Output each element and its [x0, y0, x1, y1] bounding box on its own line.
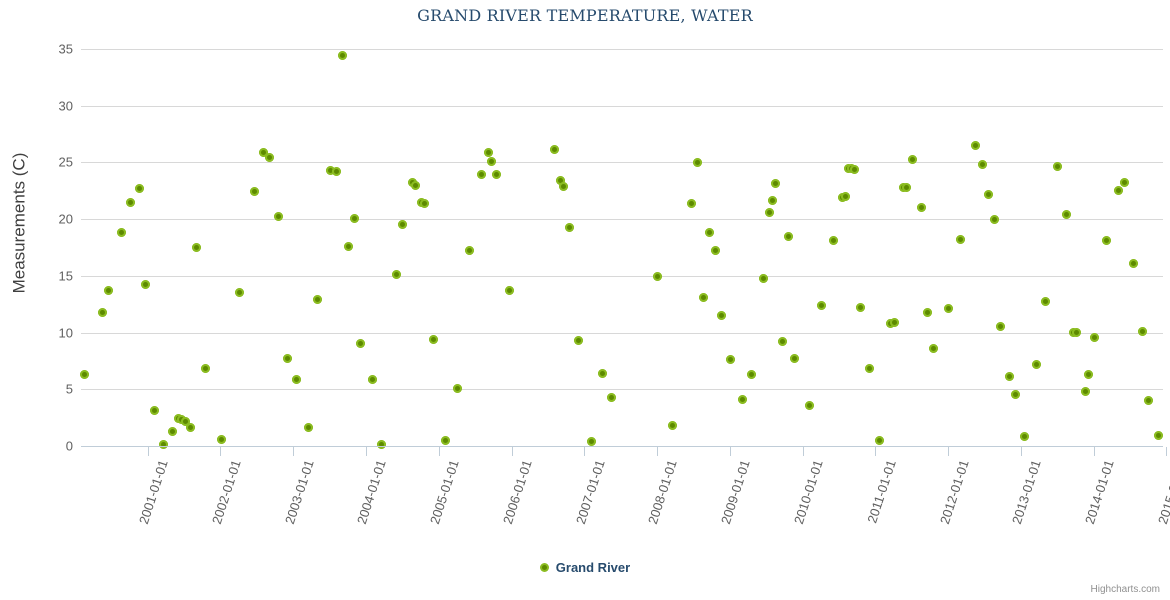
x-tick-mark: [148, 447, 149, 456]
data-point[interactable]: [1138, 327, 1147, 336]
data-point[interactable]: [250, 187, 259, 196]
data-point[interactable]: [104, 286, 113, 295]
gridline: [81, 106, 1163, 107]
data-point[interactable]: [711, 246, 720, 255]
data-point[interactable]: [477, 170, 486, 179]
y-tick-label: 15: [33, 268, 73, 283]
y-axis-tick-labels: 05101520253035: [31, 49, 73, 446]
data-point[interactable]: [784, 232, 793, 241]
x-tick-mark: [730, 447, 731, 456]
data-point[interactable]: [1120, 178, 1129, 187]
data-point[interactable]: [805, 401, 814, 410]
data-point[interactable]: [902, 183, 911, 192]
x-tick-label: 2002-01-01: [209, 458, 244, 526]
gridline: [81, 389, 1163, 390]
data-point[interactable]: [817, 301, 826, 310]
data-point[interactable]: [1011, 390, 1020, 399]
data-point[interactable]: [790, 354, 799, 363]
data-point[interactable]: [1102, 236, 1111, 245]
data-point[interactable]: [768, 196, 777, 205]
gridline: [81, 49, 1163, 50]
data-point[interactable]: [598, 369, 607, 378]
data-point[interactable]: [453, 384, 462, 393]
y-axis-title-label: Measurements (C): [9, 153, 29, 294]
data-point[interactable]: [865, 364, 874, 373]
data-point[interactable]: [186, 423, 195, 432]
x-tick-mark: [439, 447, 440, 456]
x-tick-mark: [803, 447, 804, 456]
data-point[interactable]: [587, 437, 596, 446]
data-point[interactable]: [850, 165, 859, 174]
x-tick-mark: [366, 447, 367, 456]
gridline: [81, 162, 1163, 163]
data-point[interactable]: [1032, 360, 1041, 369]
data-point[interactable]: [559, 182, 568, 191]
data-point[interactable]: [705, 228, 714, 237]
data-point[interactable]: [98, 308, 107, 317]
chart-legend[interactable]: Grand River: [0, 560, 1170, 575]
data-point[interactable]: [996, 322, 1005, 331]
data-point[interactable]: [487, 157, 496, 166]
data-point[interactable]: [908, 155, 917, 164]
data-point[interactable]: [350, 214, 359, 223]
x-tick-label: 2013-01-01: [1009, 458, 1044, 526]
data-point[interactable]: [1154, 431, 1163, 440]
data-point[interactable]: [1129, 259, 1138, 268]
data-point[interactable]: [929, 344, 938, 353]
x-tick-label: 2004-01-01: [354, 458, 389, 526]
data-point[interactable]: [217, 435, 226, 444]
data-point[interactable]: [771, 179, 780, 188]
data-point[interactable]: [923, 308, 932, 317]
data-point[interactable]: [738, 395, 747, 404]
data-point[interactable]: [699, 293, 708, 302]
data-point[interactable]: [990, 215, 999, 224]
data-point[interactable]: [841, 192, 850, 201]
data-point[interactable]: [759, 274, 768, 283]
x-tick-label: 2009-01-01: [718, 458, 753, 526]
x-tick-mark: [584, 447, 585, 456]
data-point[interactable]: [1020, 432, 1029, 441]
legend-item-grand-river[interactable]: Grand River: [556, 560, 630, 575]
data-point[interactable]: [313, 295, 322, 304]
data-point[interactable]: [944, 304, 953, 313]
data-point[interactable]: [80, 370, 89, 379]
data-point[interactable]: [1053, 162, 1062, 171]
x-tick-label: 2012-01-01: [936, 458, 971, 526]
data-point[interactable]: [398, 220, 407, 229]
data-point[interactable]: [201, 364, 210, 373]
data-point[interactable]: [717, 311, 726, 320]
data-point[interactable]: [1005, 372, 1014, 381]
y-tick-label: 25: [33, 155, 73, 170]
data-point[interactable]: [235, 288, 244, 297]
x-tick-label: 2006-01-01: [500, 458, 535, 526]
y-tick-label: 30: [33, 98, 73, 113]
data-point[interactable]: [956, 235, 965, 244]
x-tick-mark: [220, 447, 221, 456]
data-point[interactable]: [356, 339, 365, 348]
legend-marker-icon: [540, 563, 549, 572]
data-point[interactable]: [344, 242, 353, 251]
x-tick-label: 2007-01-01: [573, 458, 608, 526]
data-point[interactable]: [565, 223, 574, 232]
data-point[interactable]: [829, 236, 838, 245]
data-point[interactable]: [117, 228, 126, 237]
gridline: [81, 333, 1163, 334]
data-point[interactable]: [1144, 396, 1153, 405]
data-point[interactable]: [668, 421, 677, 430]
x-tick-mark: [293, 447, 294, 456]
x-tick-mark: [948, 447, 949, 456]
highcharts-credits[interactable]: Highcharts.com: [1091, 584, 1160, 595]
data-point[interactable]: [304, 423, 313, 432]
data-point[interactable]: [726, 355, 735, 364]
data-point[interactable]: [875, 436, 884, 445]
data-point[interactable]: [505, 286, 514, 295]
data-point[interactable]: [984, 190, 993, 199]
chart-container: GRAND RIVER TEMPERATURE, WATER Measureme…: [0, 0, 1170, 600]
x-tick-mark: [657, 447, 658, 456]
x-tick-mark: [1166, 447, 1167, 456]
data-point[interactable]: [574, 336, 583, 345]
x-tick-mark: [1094, 447, 1095, 456]
data-point[interactable]: [687, 199, 696, 208]
data-point[interactable]: [126, 198, 135, 207]
data-point[interactable]: [168, 427, 177, 436]
x-tick-mark: [1021, 447, 1022, 456]
data-point[interactable]: [135, 184, 144, 193]
x-tick-label: 2011-01-01: [864, 458, 899, 525]
data-point[interactable]: [971, 141, 980, 150]
data-point[interactable]: [377, 440, 386, 449]
data-point[interactable]: [1090, 333, 1099, 342]
data-point[interactable]: [1072, 328, 1081, 337]
y-tick-label: 35: [33, 42, 73, 57]
data-point[interactable]: [747, 370, 756, 379]
y-axis-title: Measurements (C): [6, 0, 32, 446]
data-point[interactable]: [392, 270, 401, 279]
data-point[interactable]: [150, 406, 159, 415]
x-tick-mark: [512, 447, 513, 456]
x-axis-line: [81, 446, 1163, 447]
data-point[interactable]: [1084, 370, 1093, 379]
x-tick-label: 2001-01-01: [136, 458, 171, 526]
data-point[interactable]: [484, 148, 493, 157]
y-tick-label: 20: [33, 212, 73, 227]
data-point[interactable]: [411, 181, 420, 190]
data-point[interactable]: [917, 203, 926, 212]
plot-area: [81, 49, 1163, 446]
data-point[interactable]: [465, 246, 474, 255]
data-point[interactable]: [550, 145, 559, 154]
x-tick-label: 2010-01-01: [791, 458, 826, 526]
data-point[interactable]: [978, 160, 987, 169]
y-tick-label: 0: [33, 439, 73, 454]
data-point[interactable]: [159, 440, 168, 449]
data-point[interactable]: [856, 303, 865, 312]
data-point[interactable]: [778, 337, 787, 346]
data-point[interactable]: [429, 335, 438, 344]
data-point[interactable]: [332, 167, 341, 176]
chart-title: GRAND RIVER TEMPERATURE, WATER: [0, 6, 1170, 25]
data-point[interactable]: [890, 318, 899, 327]
data-point[interactable]: [141, 280, 150, 289]
data-point[interactable]: [765, 208, 774, 217]
y-tick-label: 5: [33, 382, 73, 397]
data-point[interactable]: [292, 375, 301, 384]
data-point[interactable]: [607, 393, 616, 402]
data-point[interactable]: [1041, 297, 1050, 306]
gridline: [81, 219, 1163, 220]
data-point[interactable]: [338, 51, 347, 60]
data-point[interactable]: [1081, 387, 1090, 396]
data-point[interactable]: [441, 436, 450, 445]
data-point[interactable]: [492, 170, 501, 179]
y-tick-label: 10: [33, 325, 73, 340]
data-point[interactable]: [283, 354, 292, 363]
x-tick-label: 2005-01-01: [427, 458, 462, 526]
data-point[interactable]: [1114, 186, 1123, 195]
data-point[interactable]: [265, 153, 274, 162]
data-point[interactable]: [653, 272, 662, 281]
data-point[interactable]: [693, 158, 702, 167]
x-tick-label: 2014-01-01: [1082, 458, 1117, 526]
x-tick-label: 2008-01-01: [645, 458, 680, 526]
gridline: [81, 276, 1163, 277]
x-tick-mark: [875, 447, 876, 456]
data-point[interactable]: [192, 243, 201, 252]
data-point[interactable]: [420, 199, 429, 208]
x-tick-label: 2015-01-01: [1155, 458, 1170, 526]
x-tick-label: 2003-01-01: [282, 458, 317, 526]
data-point[interactable]: [368, 375, 377, 384]
data-point[interactable]: [1062, 210, 1071, 219]
